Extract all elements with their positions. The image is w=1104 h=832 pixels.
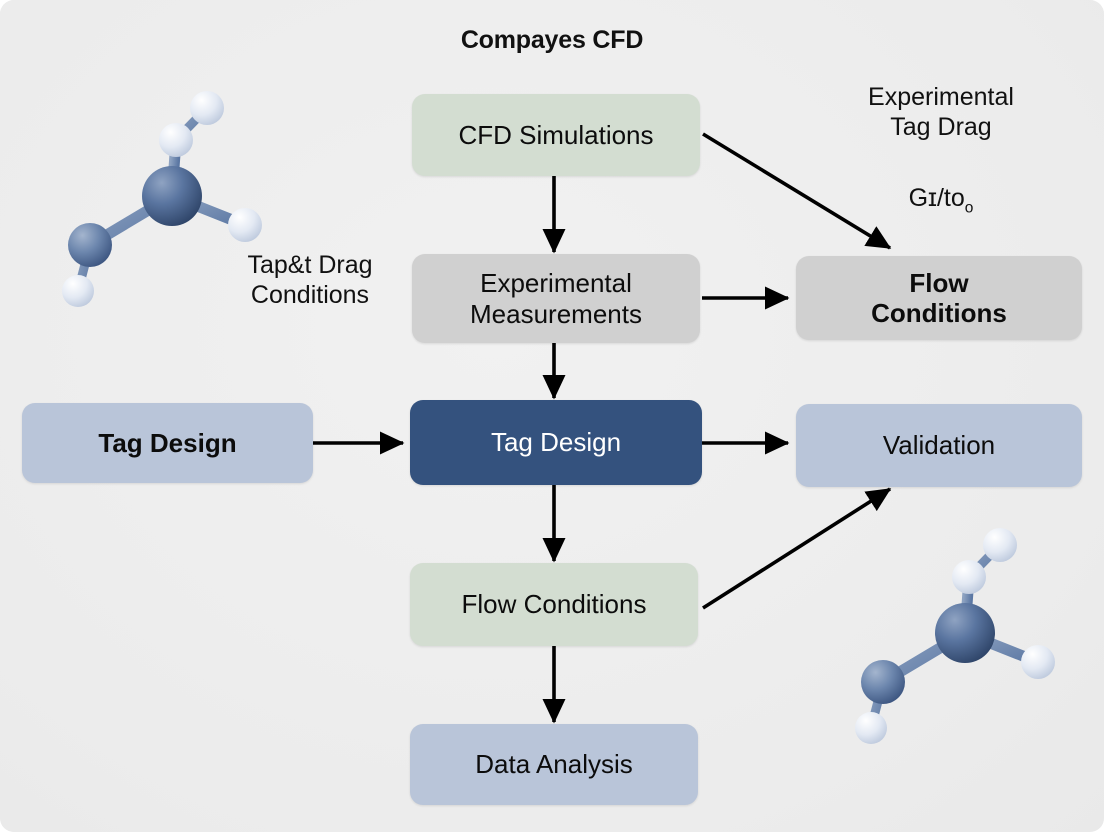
annotation-experimental-tag-drag: ExperimentalTag Drag xyxy=(816,82,1066,142)
ratio-formula-subscript: o xyxy=(965,200,974,217)
diagram-canvas: Compayes CFD xyxy=(0,0,1104,832)
annotations-layer: Tap&t DragConditions ExperimentalTag Dra… xyxy=(0,0,1104,832)
ratio-formula-base: Gɪ/to xyxy=(909,184,965,212)
annotation-tap-drag-conditions: Tap&t DragConditions xyxy=(212,250,408,310)
annotation-ratio-formula: Gɪ/too xyxy=(856,183,1026,218)
